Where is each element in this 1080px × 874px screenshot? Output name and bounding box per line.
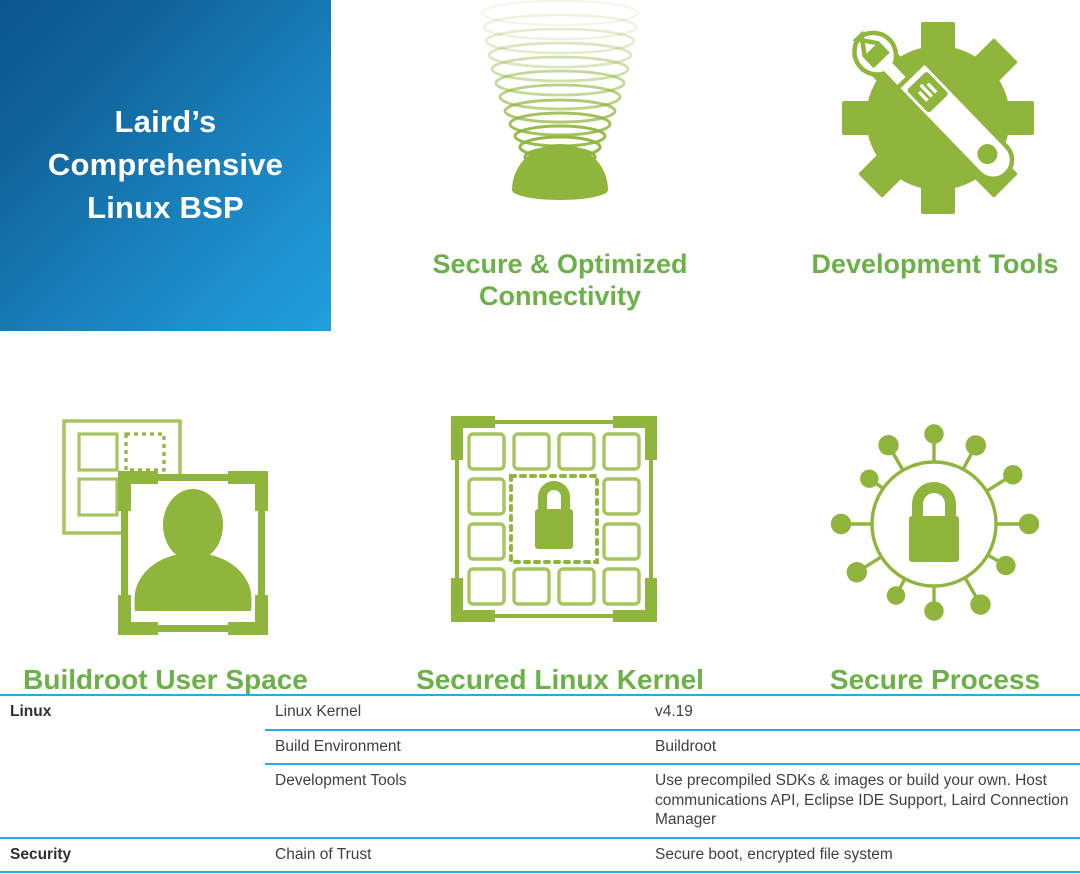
signal-cone-icon (420, 0, 700, 225)
cell-item: Build Environment (265, 730, 645, 765)
spec-table-body: Linux Linux Kernel v4.19 Build Environme… (0, 695, 1080, 874)
caption-buildroot-user-space: Buildroot User Space (0, 663, 331, 697)
caption-secured-linux-kernel: Secured Linux Kernel (400, 663, 720, 697)
caption-text: Secure & Optimized Connectivity (432, 249, 687, 311)
caption-development-tools: Development Tools (790, 248, 1080, 280)
user-in-frame-icon (40, 405, 300, 650)
caption-secure-optimized-connectivity: Secure & Optimized Connectivity (400, 248, 720, 313)
spec-table: Linux Linux Kernel v4.19 Build Environme… (0, 694, 1080, 874)
table-row: Development Tools Use precompiled SDKs &… (0, 764, 1080, 838)
cell-item: Linux Kernel (265, 695, 645, 730)
cell-value: Buildroot (645, 730, 1080, 765)
cell-group (0, 730, 265, 765)
cell-item: Chain of Trust (265, 838, 645, 873)
cell-group: Security (0, 838, 265, 873)
table-row: Linux Linux Kernel v4.19 (0, 695, 1080, 730)
blue-tile-title: Laird’s Comprehensive Linux BSP (48, 101, 283, 229)
feature-grid: Laird’s Comprehensive Linux BSP Se (0, 0, 1080, 694)
network-lock-icon (812, 412, 1057, 642)
cell-group (0, 764, 265, 838)
cell-value: Secure boot, encrypted file system (645, 838, 1080, 873)
caption-secure-process: Secure Process (790, 663, 1080, 697)
laird-linux-bsp-tile: Laird’s Comprehensive Linux BSP (0, 0, 331, 331)
grid-lock-icon (443, 412, 678, 642)
table-row: Build Environment Buildroot (0, 730, 1080, 765)
gear-wrench-icon (800, 0, 1070, 225)
cell-value: Use precompiled SDKs & images or build y… (645, 764, 1080, 838)
cell-item: Development Tools (265, 764, 645, 838)
cell-value: v4.19 (645, 695, 1080, 730)
table-row: Security Chain of Trust Secure boot, enc… (0, 838, 1080, 873)
cell-group: Linux (0, 695, 265, 730)
